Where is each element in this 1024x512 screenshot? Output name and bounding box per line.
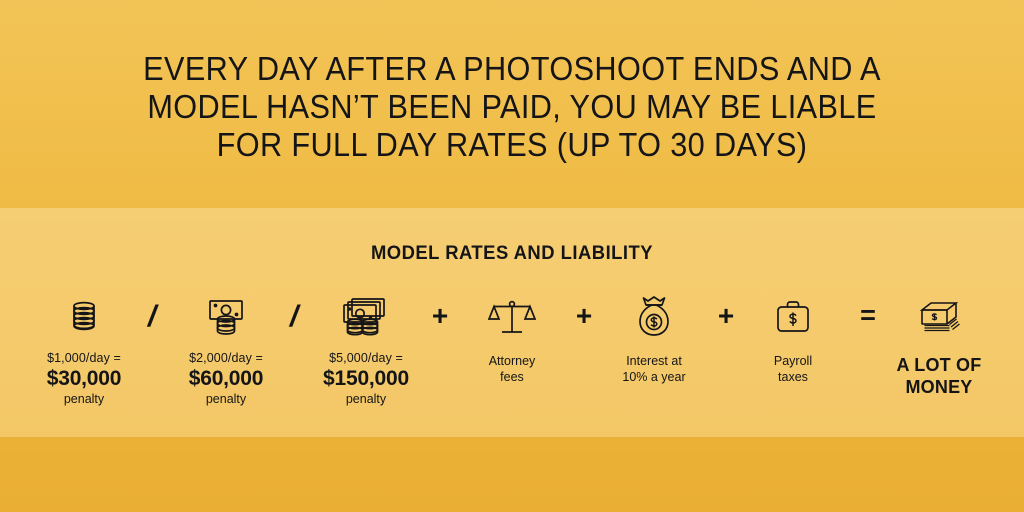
cost-label: Interest at 10% a year [594,353,714,385]
rate-total: $60,000 [156,366,296,391]
money-bag-icon [594,292,714,344]
cost-column-attorney-fees: Attorney fees [452,292,572,385]
banknote-coins-icon [156,292,296,344]
rate-unit: penalty [14,391,154,407]
cost-column-interest: Interest at 10% a year [594,292,714,385]
rate-per-day: $2,000/day = [156,350,296,366]
result-label: A LOT OF MONEY [879,354,999,398]
cost-label: Attorney fees [452,353,572,385]
rate-column-1: $1,000/day = $30,000 penalty [14,292,154,407]
scales-icon [452,292,572,344]
plus-separator-1: + [426,302,454,330]
briefcase-icon [733,292,853,344]
rate-column-3: $5,000/day = $150,000 penalty [296,292,436,407]
result-column: A LOT OF MONEY [879,292,999,398]
coin-stack-icon [14,292,154,344]
rate-column-2: $2,000/day = $60,000 penalty [156,292,296,407]
cost-column-payroll-taxes: Payroll taxes [733,292,853,385]
banknote-stack-coins-icon [296,292,436,344]
rate-total: $30,000 [14,366,154,391]
infographic-canvas: EVERY DAY AFTER A PHOTOSHOOT ENDS AND A … [0,0,1024,512]
cash-stack-icon [879,292,999,344]
page-title: EVERY DAY AFTER A PHOTOSHOOT ENDS AND A … [36,50,988,164]
rate-unit: penalty [296,391,436,407]
rate-unit: penalty [156,391,296,407]
rate-total: $150,000 [296,366,436,391]
section-subtitle: MODEL RATES AND LIABILITY [15,243,1008,265]
cost-label: Payroll taxes [733,353,853,385]
rate-per-day: $5,000/day = [296,350,436,366]
rates-row: $1,000/day = $30,000 penalty / $2,000/da… [0,292,1024,422]
rate-per-day: $1,000/day = [14,350,154,366]
